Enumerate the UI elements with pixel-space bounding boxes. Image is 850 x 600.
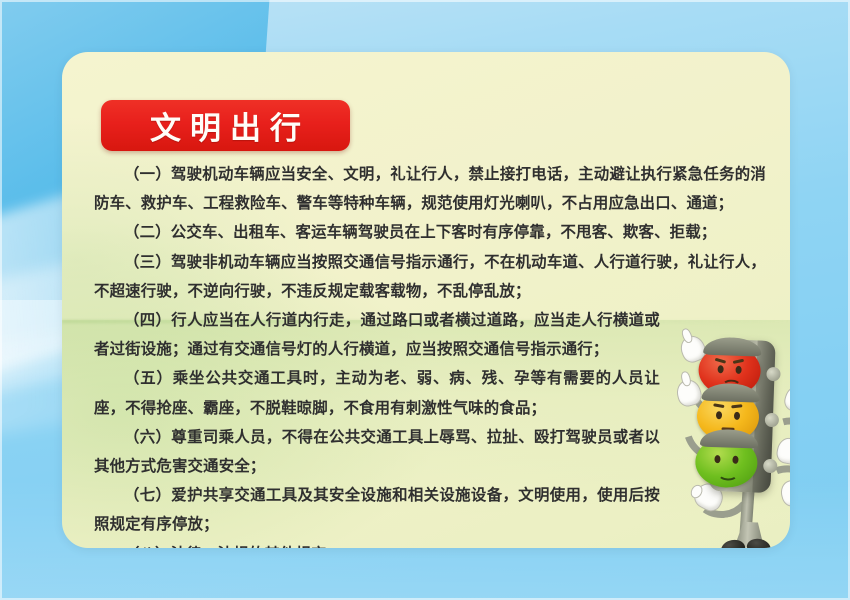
eyebrow bbox=[715, 358, 726, 364]
page-title: 文明出行 bbox=[141, 103, 310, 148]
clause-item: （八）法律、法规的其他规定。 bbox=[94, 540, 766, 548]
traffic-civility-poster: 文明出行 （一）驾驶机动车辆应当安全、文明，礼让行人，禁止接打电话，主动避让执行… bbox=[0, 0, 850, 600]
eye bbox=[732, 456, 738, 464]
clause-item: （四）行人应当在人行道内行走，通过路口或者横过道路，应当走人行横道或者过街设施；… bbox=[94, 306, 660, 364]
eyebrow bbox=[731, 404, 742, 408]
clause-item: （一）驾驶机动车辆应当安全、文明，礼让行人，禁止接打电话，主动避让执行紧急任务的… bbox=[94, 160, 766, 218]
eye bbox=[717, 365, 723, 373]
clause-item: （三）驾驶非机动车辆应当按照交通信号指示通行，不在机动车道、人行道行驶，礼让行人… bbox=[94, 248, 766, 306]
eye bbox=[716, 411, 722, 419]
clause-item: （六）尊重司乘人员，不得在公共交通工具上辱骂、拉扯、殴打驾驶员或者以其他方式危害… bbox=[94, 423, 660, 481]
clause-item: （七）爱护共享交通工具及其安全设施和相关设施设备，文明使用，使用后按照规定有序停… bbox=[94, 481, 660, 539]
clause-list: （一）驾驶机动车辆应当安全、文明，礼让行人，禁止接打电话，主动避让执行紧急任务的… bbox=[94, 160, 766, 548]
traffic-light-housing bbox=[708, 339, 775, 493]
traffic-light-mascot bbox=[677, 334, 790, 548]
clause-item: （五）乘坐公共交通工具时，主动为老、弱、病、残、孕等有需要的人员让座，不得抢座、… bbox=[94, 364, 660, 422]
eye bbox=[735, 366, 741, 374]
eye bbox=[734, 412, 740, 420]
title-banner: 文明出行 bbox=[101, 100, 350, 151]
mouth-smile bbox=[718, 467, 738, 481]
lamp-visor-red bbox=[703, 337, 762, 357]
eye bbox=[714, 455, 720, 463]
eyebrow bbox=[733, 359, 744, 364]
content-card: 文明出行 （一）驾驶机动车辆应当安全、文明，礼让行人，禁止接打电话，主动避让执行… bbox=[62, 52, 790, 548]
eyebrow bbox=[713, 403, 724, 408]
clause-item: （二）公交车、出租车、客运车辆驾驶员在上下客时有序停靠，不甩客、欺客、拒载； bbox=[94, 218, 766, 247]
